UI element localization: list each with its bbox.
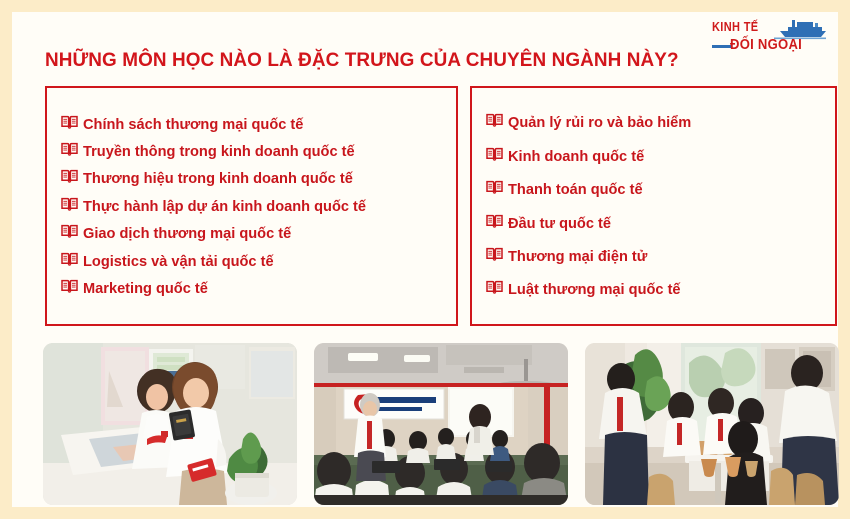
list-item: Thương hiệu trong kinh doanh quốc tế — [61, 165, 446, 192]
list-item: Marketing quốc tế — [61, 274, 446, 301]
list-item-label: Marketing quốc tế — [83, 281, 208, 297]
logo-line-2: ĐỐI NGOẠI — [730, 37, 802, 53]
photo-students-cafe — [585, 343, 839, 505]
open-book-icon — [486, 180, 508, 194]
open-book-icon — [486, 113, 508, 127]
slide-root: KINH TẾ ĐỐI NGOẠI NHỮNG MÔN HỌC NÀO LÀ Đ… — [0, 0, 850, 519]
open-book-icon — [61, 252, 83, 266]
open-book-icon — [61, 169, 83, 183]
left-subject-box: Chính sách thương mại quốc tế Truyền thô… — [45, 86, 458, 326]
list-item: Luật thương mại quốc tế — [486, 273, 825, 306]
slide-inner-panel: KINH TẾ ĐỐI NGOẠI NHỮNG MÔN HỌC NÀO LÀ Đ… — [12, 12, 838, 507]
list-item-label: Thương hiệu trong kinh doanh quốc tế — [83, 171, 353, 187]
subject-lists: Chính sách thương mại quốc tế Truyền thô… — [45, 86, 837, 326]
list-item: Thương mại điện tử — [486, 239, 825, 272]
list-item-label: Thực hành lập dự án kinh doanh quốc tế — [83, 199, 366, 215]
list-item-label: Giao dịch thương mại quốc tế — [83, 226, 291, 242]
right-subject-box: Quản lý rủi ro và bảo hiểm Kinh doanh qu… — [470, 86, 837, 326]
brand-logo: KINH TẾ ĐỐI NGOẠI — [712, 18, 828, 60]
photo-classroom-lecture — [314, 343, 568, 505]
logo-dash — [712, 45, 732, 48]
open-book-icon — [486, 247, 508, 261]
list-item: Truyền thông trong kinh doanh quốc tế — [61, 138, 446, 165]
open-book-icon — [486, 214, 508, 228]
open-book-icon — [61, 224, 83, 238]
list-item: Đầu tư quốc tế — [486, 206, 825, 239]
list-item-label: Quản lý rủi ro và bảo hiểm — [508, 115, 691, 131]
list-item-label: Thanh toán quốc tế — [508, 182, 643, 198]
photo-strip — [43, 343, 839, 505]
open-book-icon — [61, 115, 83, 129]
list-item-label: Kinh doanh quốc tế — [508, 149, 644, 165]
page-title: NHỮNG MÔN HỌC NÀO LÀ ĐẶC TRƯNG CỦA CHUYÊ… — [45, 49, 679, 72]
list-item-label: Chính sách thương mại quốc tế — [83, 117, 303, 133]
list-item-label: Truyền thông trong kinh doanh quốc tế — [83, 144, 355, 160]
list-item-label: Đầu tư quốc tế — [508, 216, 611, 232]
list-item-label: Thương mại điện tử — [508, 249, 647, 265]
logo-line-1: KINH TẾ — [712, 20, 758, 34]
list-item: Giao dịch thương mại quốc tế — [61, 220, 446, 247]
open-book-icon — [61, 142, 83, 156]
list-item: Quản lý rủi ro và bảo hiểm — [486, 106, 825, 139]
list-item: Kinh doanh quốc tế — [486, 139, 825, 172]
open-book-icon — [61, 197, 83, 211]
list-item: Thanh toán quốc tế — [486, 173, 825, 206]
list-item: Logistics và vận tải quốc tế — [61, 247, 446, 274]
photo-students-exhibit — [43, 343, 297, 505]
open-book-icon — [486, 147, 508, 161]
list-item-label: Logistics và vận tải quốc tế — [83, 254, 274, 270]
list-item-label: Luật thương mại quốc tế — [508, 282, 681, 298]
list-item: Chính sách thương mại quốc tế — [61, 110, 446, 137]
list-item: Thực hành lập dự án kinh doanh quốc tế — [61, 192, 446, 219]
open-book-icon — [61, 279, 83, 293]
open-book-icon — [486, 280, 508, 294]
